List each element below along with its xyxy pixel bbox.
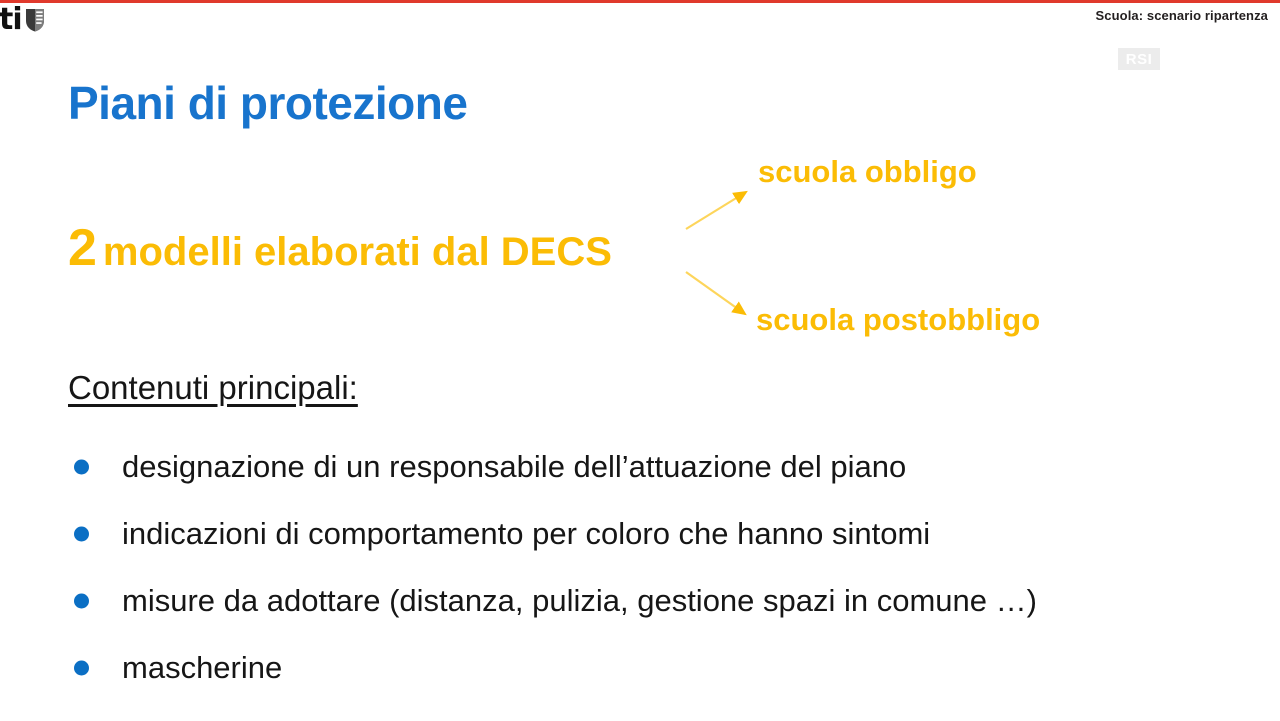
program-label: Scuola: scenario ripartenza bbox=[1096, 8, 1268, 23]
list-item: misure da adottare (distanza, pulizia, g… bbox=[68, 567, 1258, 634]
canton-ticino-logo: ti bbox=[2, 3, 68, 37]
arrow-to-scuola-postobbligo bbox=[686, 272, 745, 314]
models-phrase: modelli elaborati dal DECS bbox=[103, 230, 612, 274]
models-count: 2 bbox=[68, 219, 97, 277]
top-red-rule bbox=[0, 0, 1280, 3]
bullet-dot-icon bbox=[74, 593, 89, 608]
contents-list: designazione di un responsabile dell’att… bbox=[68, 433, 1258, 701]
list-item-label: mascherine bbox=[122, 650, 282, 686]
list-item: designazione di un responsabile dell’att… bbox=[68, 433, 1258, 500]
models-headline: 2modelli elaborati dal DECS bbox=[68, 222, 612, 274]
slide-title: Piani di protezione bbox=[68, 75, 467, 131]
branch-label-scuola-postobbligo: scuola postobbligo bbox=[756, 302, 1040, 338]
branch-label-scuola-obbligo: scuola obbligo bbox=[758, 154, 977, 190]
list-item: indicazioni di comportamento per coloro … bbox=[68, 500, 1258, 567]
list-item-label: indicazioni di comportamento per coloro … bbox=[122, 516, 930, 552]
bullet-dot-icon bbox=[74, 459, 89, 474]
list-item: mascherine bbox=[68, 634, 1258, 701]
brand-wordmark: ti bbox=[0, 5, 22, 35]
list-item-label: misure da adottare (distanza, pulizia, g… bbox=[122, 583, 1037, 619]
presentation-slide: ti Scuola: scenario ripartenza RSI Piani… bbox=[0, 0, 1280, 721]
list-item-label: designazione di un responsabile dell’att… bbox=[122, 449, 906, 485]
rsi-watermark-text: RSI bbox=[1126, 52, 1153, 67]
bullet-dot-icon bbox=[74, 660, 89, 675]
ticino-shield-icon bbox=[25, 8, 45, 32]
contents-heading: Contenuti principali: bbox=[68, 368, 358, 408]
arrow-to-scuola-obbligo bbox=[686, 192, 746, 229]
bullet-dot-icon bbox=[74, 526, 89, 541]
rsi-watermark: RSI bbox=[1118, 48, 1160, 70]
